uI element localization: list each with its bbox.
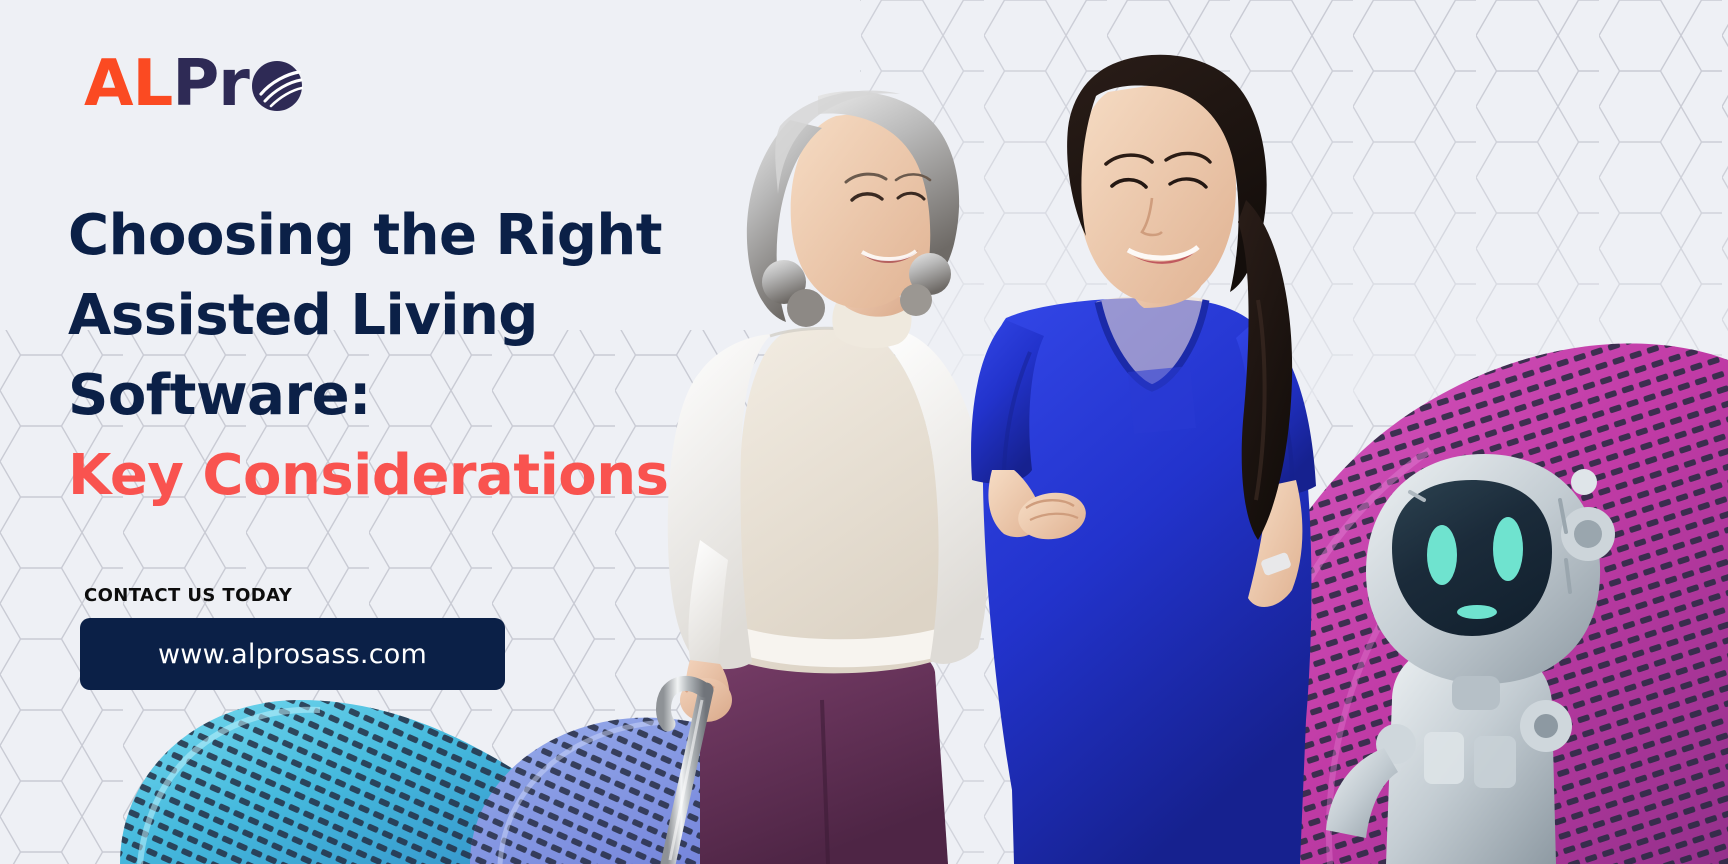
headline-accent-line: Key Considerations	[68, 436, 728, 516]
headline-line-2: Assisted Living	[68, 276, 728, 356]
swoosh-circle-icon	[251, 60, 303, 112]
logo-text-al: AL	[84, 52, 172, 116]
website-url-button[interactable]: www.alprosass.com	[80, 618, 505, 690]
headline-line-1: Choosing the Right	[68, 196, 728, 276]
brand-logo[interactable]: AL Pr	[84, 48, 303, 120]
logo-text-pr: Pr	[172, 52, 248, 116]
website-url-text: www.alprosass.com	[158, 639, 427, 670]
contact-us-label: CONTACT US TODAY	[84, 585, 292, 606]
marketing-banner: AL Pr Choosing the Right Assisted Living…	[0, 0, 1728, 864]
headline-line-3: Software:	[68, 356, 728, 436]
headline-block: Choosing the Right Assisted Living Softw…	[68, 196, 728, 516]
